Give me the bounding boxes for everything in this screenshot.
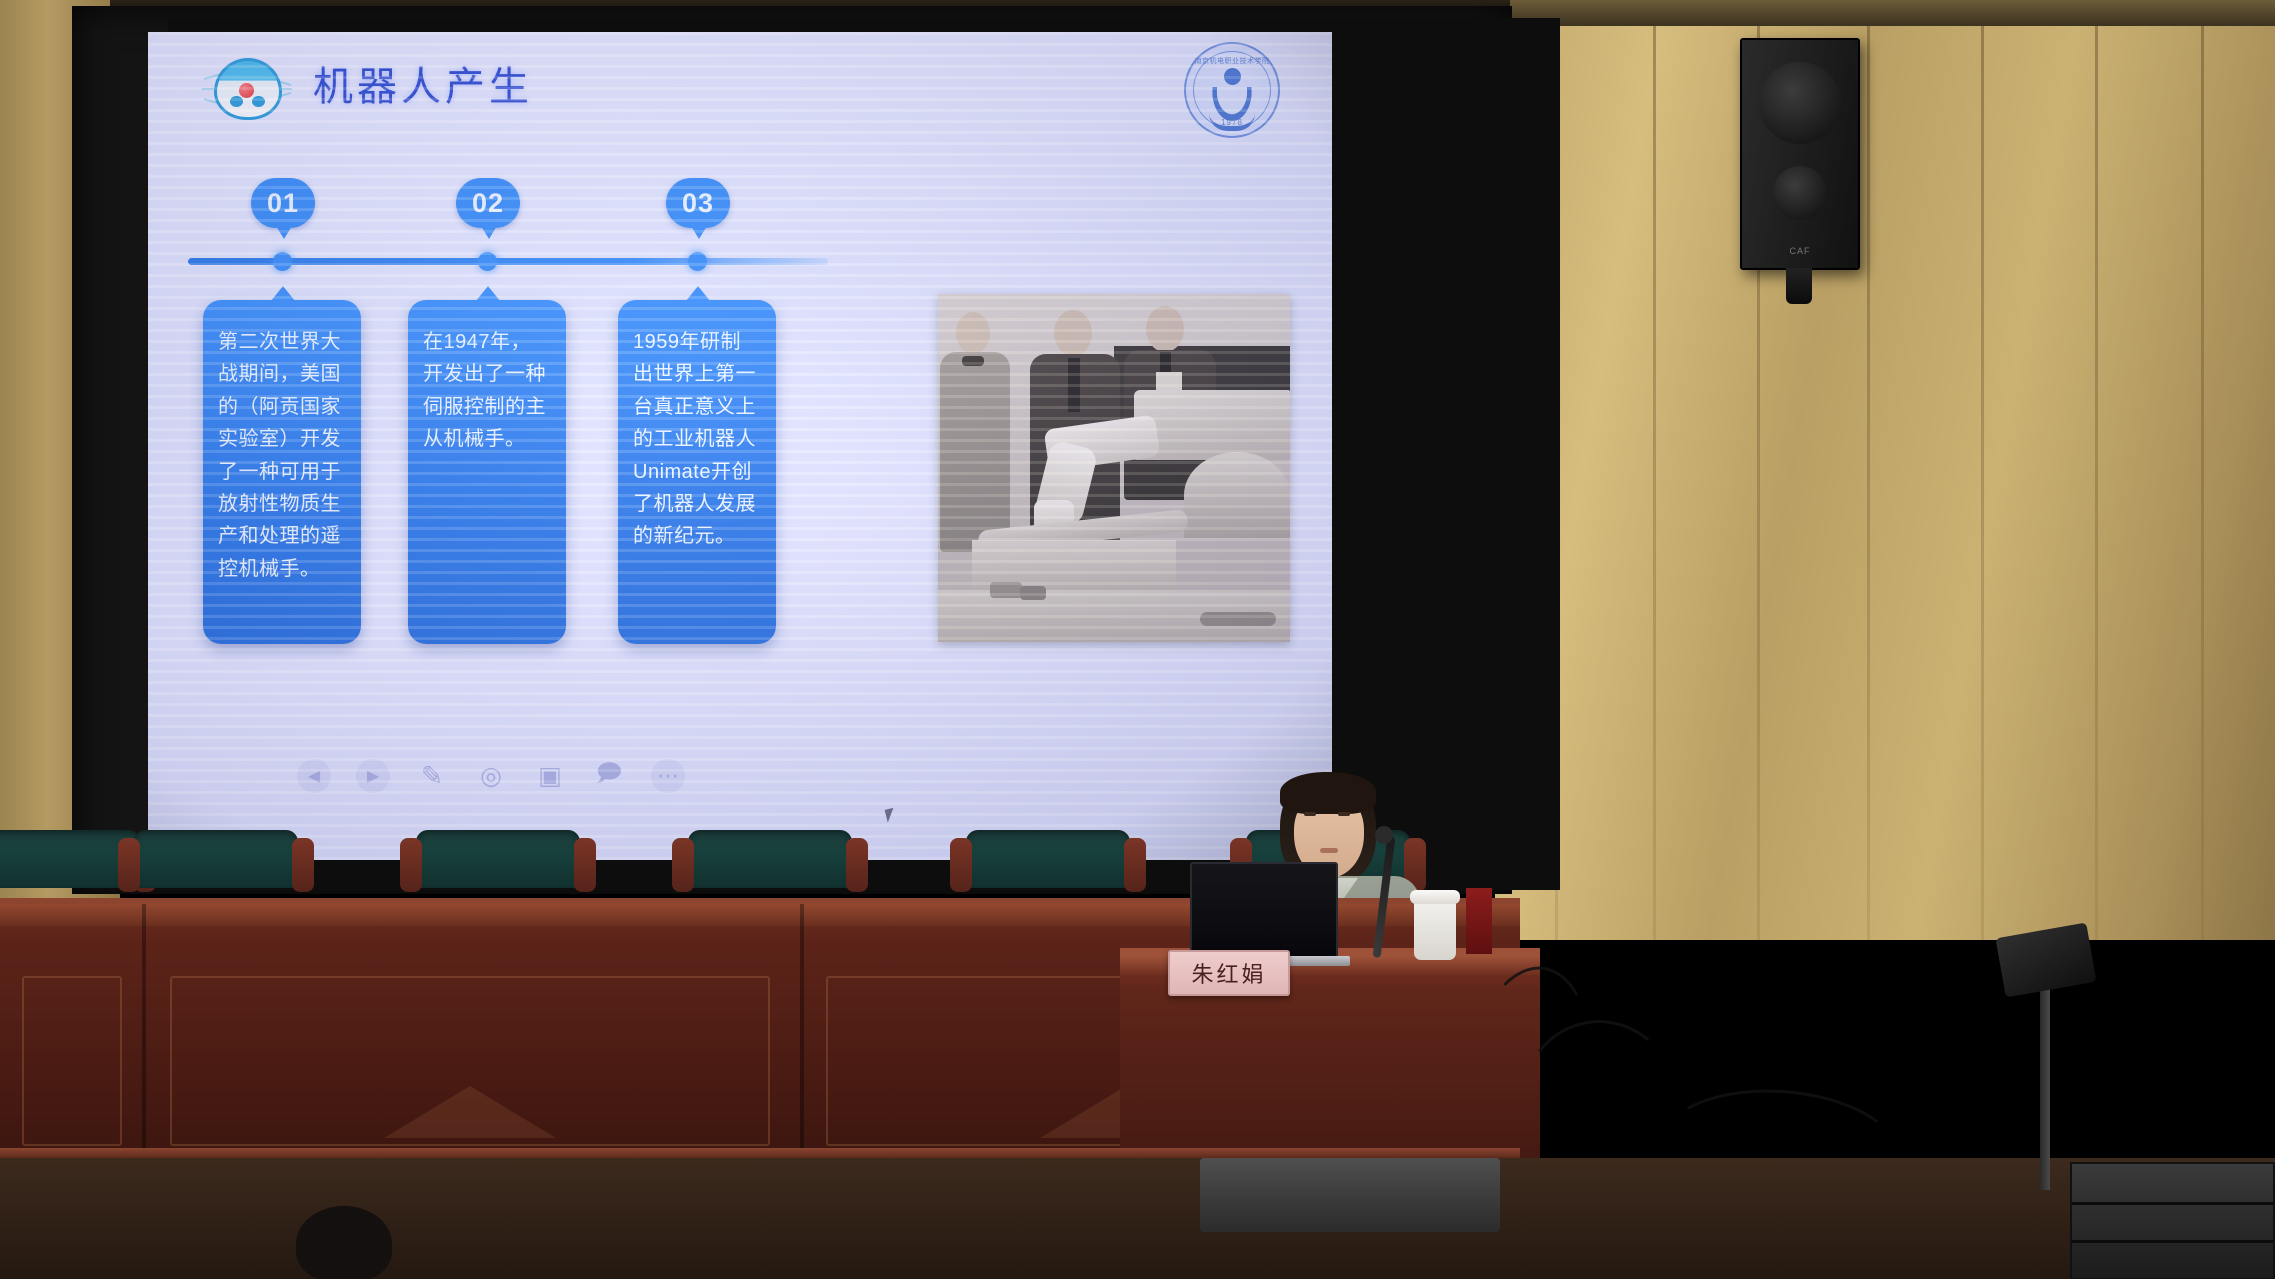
conference-chair [950,830,1146,900]
microphone-head [1375,826,1393,844]
school-name-cn: 南京机电职业技术学院 [1186,56,1278,66]
conference-chair [400,830,596,900]
previous-slide-icon[interactable]: ◀ [296,758,332,794]
spotlight-glyph: ◎ [480,761,502,791]
doraemon-icon [208,54,288,126]
red-folder [1466,888,1492,954]
previous-slide-glyph: ◀ [308,766,320,786]
school-founding-year: 1978 [1186,118,1278,127]
next-slide-icon[interactable]: ▶ [355,758,391,794]
timeline-card-02[interactable]: 在1947年，开发出了一种伺服控制的主从机械手。 [408,300,566,644]
wall-right [1495,0,2275,940]
more-glyph: ⋯ [657,763,679,789]
slide-title: 机器人产生 [313,54,533,112]
laptop[interactable] [1190,862,1338,958]
slide-toolbar[interactable]: ◀ ▶ ✎ ◎ ▣ 🗩 ⋯ [296,758,686,794]
tea-cup-lid [1410,890,1460,904]
more-options-icon[interactable]: ⋯ [650,758,686,794]
next-slide-glyph: ▶ [367,766,379,786]
nameplate: 朱红娟 [1168,950,1290,996]
video-glyph: ▣ [538,761,562,791]
timeline-badge-03: 03 [666,178,730,228]
pen-annotate-icon[interactable]: ✎ [414,758,450,794]
screenshot-root: 机器人产生 南京机电职业技术学院 1978 01 02 03 第二次世界大战期间… [0,0,2275,1279]
presentation-slide[interactable]: 机器人产生 南京机电职业技术学院 1978 01 02 03 第二次世界大战期间… [148,32,1332,860]
audience-member-head [296,1206,392,1279]
timeline-node-1 [273,252,292,271]
timeline-card-01[interactable]: 第二次世界大战期间，美国的（阿贡国家实验室）开发了一种可用于放射性物质生产和处理… [203,300,361,644]
speaker-bracket [1786,268,1812,304]
video-record-icon[interactable]: ▣ [532,758,568,794]
school-emblem: 南京机电职业技术学院 1978 [1184,42,1280,138]
tea-cup [1414,898,1456,960]
timeline-card-03[interactable]: 1959年研制出世界上第一台真正意义上的工业机器人Unimate开创了机器人发展… [618,300,776,644]
timeline-node-3 [688,252,707,271]
timeline-badge-01: 01 [251,178,315,228]
notes-comment-icon[interactable]: 🗩 [591,758,627,794]
ceiling-speaker: CAF [1740,38,1860,270]
speaker-stand-pole [2040,960,2050,1190]
pen-glyph: ✎ [421,761,444,792]
timeline-node-2 [478,252,497,271]
flight-case [2070,1162,2275,1279]
conference-chair [672,830,868,900]
timeline-badge-02: 02 [456,178,520,228]
speaker-brand-label: CAF [1742,246,1858,256]
stage-equipment-box [1200,1158,1500,1232]
notes-glyph: 🗩 [596,756,623,797]
conference-chair [118,830,314,900]
ceiling-strip [1490,0,2275,26]
slide-header: 机器人产生 南京机电职业技术学院 1978 [148,32,1332,142]
unimate-historical-photo [938,294,1290,642]
spotlight-focus-icon[interactable]: ◎ [473,758,509,794]
